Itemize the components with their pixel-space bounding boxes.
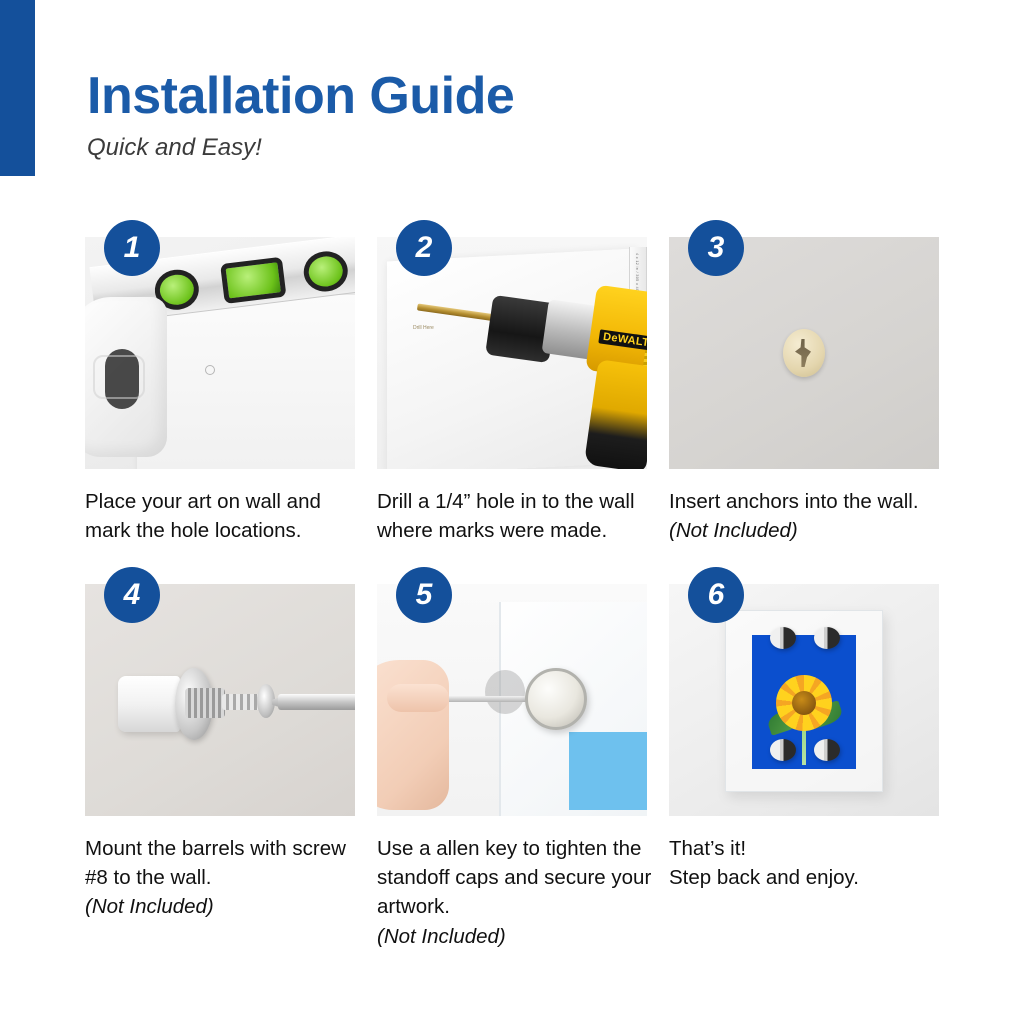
step-6: 6 That’s it! S	[669, 567, 939, 950]
step-3: 3 Insert anchors into the wall. (Not Inc…	[669, 220, 939, 545]
step-caption-4: Mount the barrels with screw #8 to the w…	[85, 834, 365, 921]
step-caption-6: That’s it! Step back and enjoy.	[669, 834, 949, 892]
barrel-thread-icon	[185, 688, 225, 718]
hand-icon	[377, 660, 449, 810]
step-5: 5 Use a allen key to tighten the standof…	[377, 567, 647, 950]
screwdriver-shaft-icon	[278, 694, 355, 710]
step-caption-1: Place your art on wall and mark the hole…	[85, 487, 365, 545]
step-4: 4 Mount the barrels with screw #8 to the…	[85, 567, 355, 950]
step-caption-text-6: That’s it!	[669, 837, 746, 860]
step-caption-text-4: Mount the barrels with screw #8 to the w…	[85, 837, 346, 889]
header: Installation Guide Quick and Easy!	[87, 70, 514, 162]
sunflower-center-icon	[792, 691, 816, 715]
step-caption-3: Insert anchors into the wall. (Not Inclu…	[669, 487, 949, 545]
step-caption-5: Use a allen key to tighten the standoff …	[377, 834, 657, 950]
step-number-badge-5: 5	[396, 567, 452, 623]
steps-grid: 1 Place your art on wall and mark the ho…	[85, 220, 943, 951]
step-caption-note-5: (Not Included)	[377, 922, 657, 951]
step-caption-text-3: Insert anchors into the wall.	[669, 490, 919, 513]
step-caption-note-4: (Not Included)	[85, 892, 365, 921]
page-title: Installation Guide	[87, 70, 514, 122]
page-subtitle: Quick and Easy!	[87, 134, 514, 162]
level-vial-icon	[301, 249, 350, 294]
step-caption-text-2: Drill a 1/4” hole in to the wall where m…	[377, 490, 635, 542]
step-caption-note-3: (Not Included)	[669, 519, 798, 542]
step-2: 2 4 x 12 in / 305 x 406 mm Drill Here De…	[377, 220, 647, 545]
step-caption-text-5: Use a allen key to tighten the standoff …	[377, 837, 651, 918]
step-caption-text-1: Place your art on wall and mark the hole…	[85, 490, 321, 542]
standoff-shadow-icon	[485, 670, 525, 714]
hole-mark-icon	[205, 365, 215, 375]
step-number-badge-6: 6	[688, 567, 744, 623]
standoff-barrel-icon	[118, 676, 180, 732]
art-panel-shape	[137, 295, 355, 469]
step-number-badge-1: 1	[104, 220, 160, 276]
step-number-badge-2: 2	[396, 220, 452, 276]
blue-artwork-corner	[569, 732, 647, 810]
step-number-badge-3: 3	[688, 220, 744, 276]
wall-anchor-icon	[783, 329, 825, 377]
level-vial-icon	[220, 257, 286, 304]
acrylic-frame-shape	[725, 610, 883, 792]
allen-key-shaft-icon	[435, 696, 535, 702]
standoff-cap-icon	[525, 668, 587, 730]
glove-logo-icon	[93, 355, 145, 399]
installation-guide-page: Installation Guide Quick and Easy! 1 Pla…	[0, 0, 1024, 1024]
step-1: 1 Place your art on wall and mark the ho…	[85, 220, 355, 545]
step-number-badge-4: 4	[104, 567, 160, 623]
drill-here-label: Drill Here	[413, 325, 434, 331]
finger-icon	[387, 684, 449, 712]
step-caption-2: Drill a 1/4” hole in to the wall where m…	[377, 487, 657, 545]
header-accent-bar	[0, 0, 35, 176]
sunflower-artwork	[752, 635, 856, 769]
step-caption-text-6-line2: Step back and enjoy.	[669, 866, 859, 889]
